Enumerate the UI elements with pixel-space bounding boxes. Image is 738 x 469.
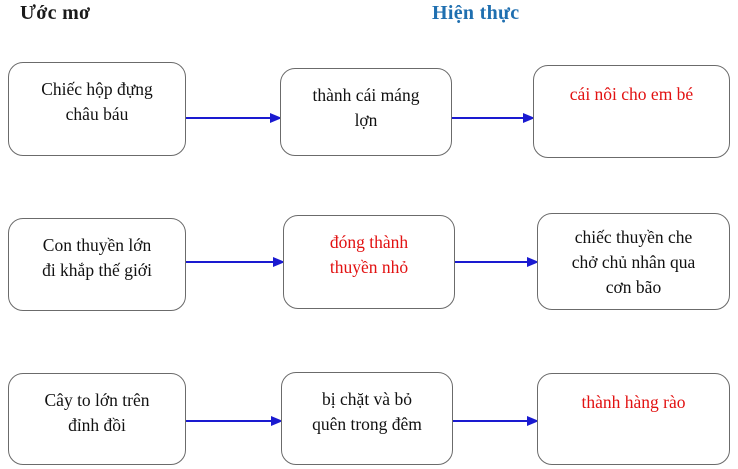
node-text-line: cơn bão bbox=[606, 275, 661, 300]
node-text-line: Cây to lớn trên bbox=[45, 388, 150, 413]
node-text-line: quên trong đêm bbox=[312, 412, 422, 437]
column-header-reality: Hiện thực bbox=[432, 2, 519, 25]
node-text-line: thành hàng rào bbox=[582, 390, 686, 415]
node-middle-pig-trough[interactable]: thành cái máng lợn bbox=[280, 68, 452, 156]
node-text-line: đóng thành bbox=[330, 230, 408, 255]
node-middle-cut-forgotten[interactable]: bị chặt và bỏ quên trong đêm bbox=[281, 372, 453, 465]
node-text-line: Con thuyền lớn bbox=[43, 233, 151, 258]
node-dream-tall-tree[interactable]: Cây to lớn trên đỉnh đồi bbox=[8, 373, 186, 465]
flow-diagram: Ước mơ Hiện thực Chiếc hộp đựng châu báu… bbox=[0, 0, 738, 469]
node-text-line: đi khắp thế giới bbox=[42, 258, 152, 283]
arrow-r1-step1 bbox=[186, 112, 282, 124]
node-outcome-fence[interactable]: thành hàng rào bbox=[537, 373, 730, 465]
node-text-line: bị chặt và bỏ bbox=[322, 387, 412, 412]
arrow-r1-step2 bbox=[452, 112, 535, 124]
arrow-r3-step2 bbox=[453, 415, 539, 427]
node-outcome-baby-cradle[interactable]: cái nôi cho em bé bbox=[533, 65, 730, 158]
arrow-r3-step1 bbox=[186, 415, 283, 427]
node-text-line: cái nôi cho em bé bbox=[570, 82, 693, 107]
node-outcome-boat-shelter[interactable]: chiếc thuyền che chở chủ nhân qua cơn bã… bbox=[537, 213, 730, 310]
node-text-line: châu báu bbox=[66, 102, 129, 127]
arrow-r2-step2 bbox=[455, 256, 539, 268]
node-middle-small-boat[interactable]: đóng thành thuyền nhỏ bbox=[283, 215, 455, 309]
node-text-line: thuyền nhỏ bbox=[330, 255, 408, 280]
node-text-line: thành cái máng bbox=[313, 83, 420, 108]
arrow-r2-step1 bbox=[186, 256, 285, 268]
node-text-line: Chiếc hộp đựng bbox=[41, 77, 153, 102]
node-dream-great-ship[interactable]: Con thuyền lớn đi khắp thế giới bbox=[8, 218, 186, 311]
column-header-dream: Ước mơ bbox=[20, 2, 90, 25]
node-text-line: chở chủ nhân qua bbox=[572, 250, 695, 275]
node-dream-treasure-box[interactable]: Chiếc hộp đựng châu báu bbox=[8, 62, 186, 156]
node-text-line: đỉnh đồi bbox=[68, 413, 126, 438]
node-text-line: lợn bbox=[355, 108, 378, 133]
node-text-line: chiếc thuyền che bbox=[575, 225, 693, 250]
